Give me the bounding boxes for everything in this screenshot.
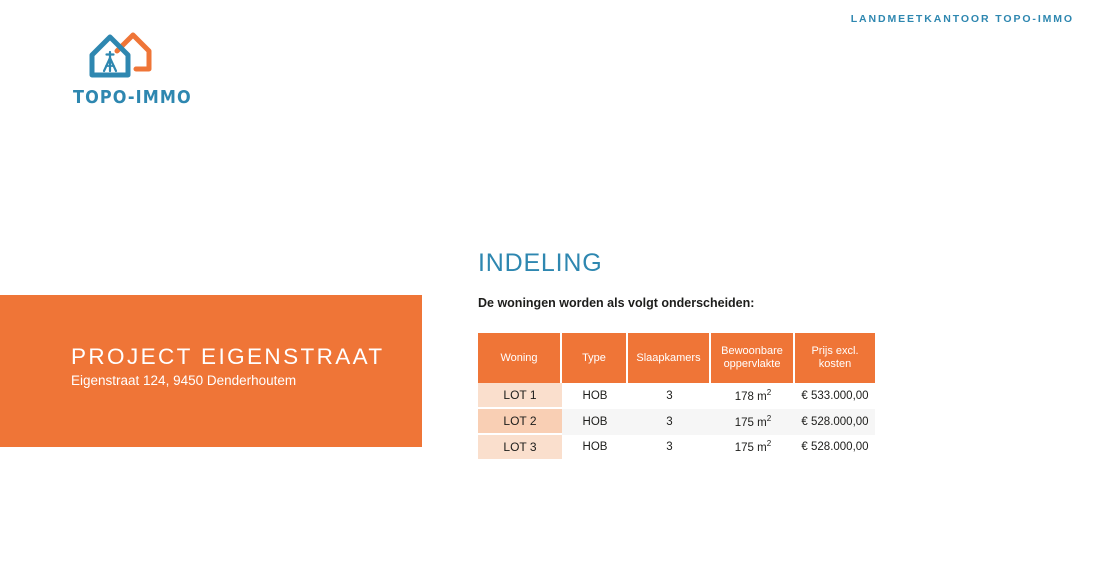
project-title: PROJECT EIGENSTRAAT — [71, 344, 385, 370]
section-intro-text: De woningen worden als volgt onderscheid… — [478, 295, 1078, 311]
column-header-prijs-label: Prijs excl. kosten — [811, 345, 858, 370]
cell-prijs: € 528.000,00 — [795, 435, 875, 459]
column-header-slaapkamers: Slaapkamers — [628, 333, 711, 383]
cell-prijs: € 528.000,00 — [795, 409, 875, 435]
column-header-type-label: Type — [582, 352, 606, 364]
two-houses-surveyor-tripod-icon — [86, 28, 160, 84]
cell-woning: LOT 1 — [478, 383, 562, 409]
cell-oppervlakte-value: 178 m — [735, 391, 767, 403]
cell-oppervlakte-value: 175 m — [735, 442, 767, 454]
cell-prijs: € 533.000,00 — [795, 383, 875, 409]
project-address: Eigenstraat 124, 9450 Denderhoutem — [71, 373, 296, 388]
cell-woning: LOT 2 — [478, 409, 562, 435]
table-row: LOT 3 HOB 3 175 m2 € 528.000,00 — [478, 435, 875, 459]
main-content: INDELING De woningen worden als volgt on… — [478, 248, 1078, 459]
cell-oppervlakte-exponent: 2 — [767, 415, 771, 424]
project-banner: PROJECT EIGENSTRAAT Eigenstraat 124, 945… — [0, 295, 422, 447]
logo-wordmark: TOPO-IMMO — [73, 88, 234, 108]
logo: TOPO-IMMO — [73, 28, 253, 113]
column-header-type: Type — [562, 333, 628, 383]
table-row: LOT 1 HOB 3 178 m2 € 533.000,00 — [478, 383, 875, 409]
column-header-oppervlakte: Bewoonbare oppervlakte — [711, 333, 795, 383]
cell-type: HOB — [562, 435, 628, 459]
cell-type: HOB — [562, 409, 628, 435]
cell-slaapkamers: 3 — [628, 409, 711, 435]
page-title: INDELING — [478, 248, 1078, 278]
column-header-oppervlakte-line2: oppervlakte — [724, 358, 781, 370]
column-header-slaapkamers-label: Slaapkamers — [636, 352, 700, 364]
cell-type: HOB — [562, 383, 628, 409]
lots-table: Woning Type Slaapkamers Bewoonbare opper… — [478, 333, 875, 459]
cell-slaapkamers: 3 — [628, 383, 711, 409]
cell-oppervlakte: 178 m2 — [711, 383, 795, 409]
column-header-woning-label: Woning — [500, 352, 537, 364]
header-kicker-text: LANDMEETKANTOOR TOPO-IMMO — [851, 13, 1074, 25]
cell-oppervlakte-value: 175 m — [735, 417, 767, 429]
cell-oppervlakte: 175 m2 — [711, 435, 795, 459]
table-header-row: Woning Type Slaapkamers Bewoonbare opper… — [478, 333, 875, 383]
column-header-oppervlakte-line1: Bewoonbare — [721, 345, 783, 357]
cell-slaapkamers: 3 — [628, 435, 711, 459]
column-header-prijs: Prijs excl. kosten — [795, 333, 875, 383]
table-row: LOT 2 HOB 3 175 m2 € 528.000,00 — [478, 409, 875, 435]
cell-oppervlakte-exponent: 2 — [767, 389, 771, 398]
cell-oppervlakte: 175 m2 — [711, 409, 795, 435]
column-header-woning: Woning — [478, 333, 562, 383]
cell-oppervlakte-exponent: 2 — [767, 440, 771, 449]
cell-woning: LOT 3 — [478, 435, 562, 459]
